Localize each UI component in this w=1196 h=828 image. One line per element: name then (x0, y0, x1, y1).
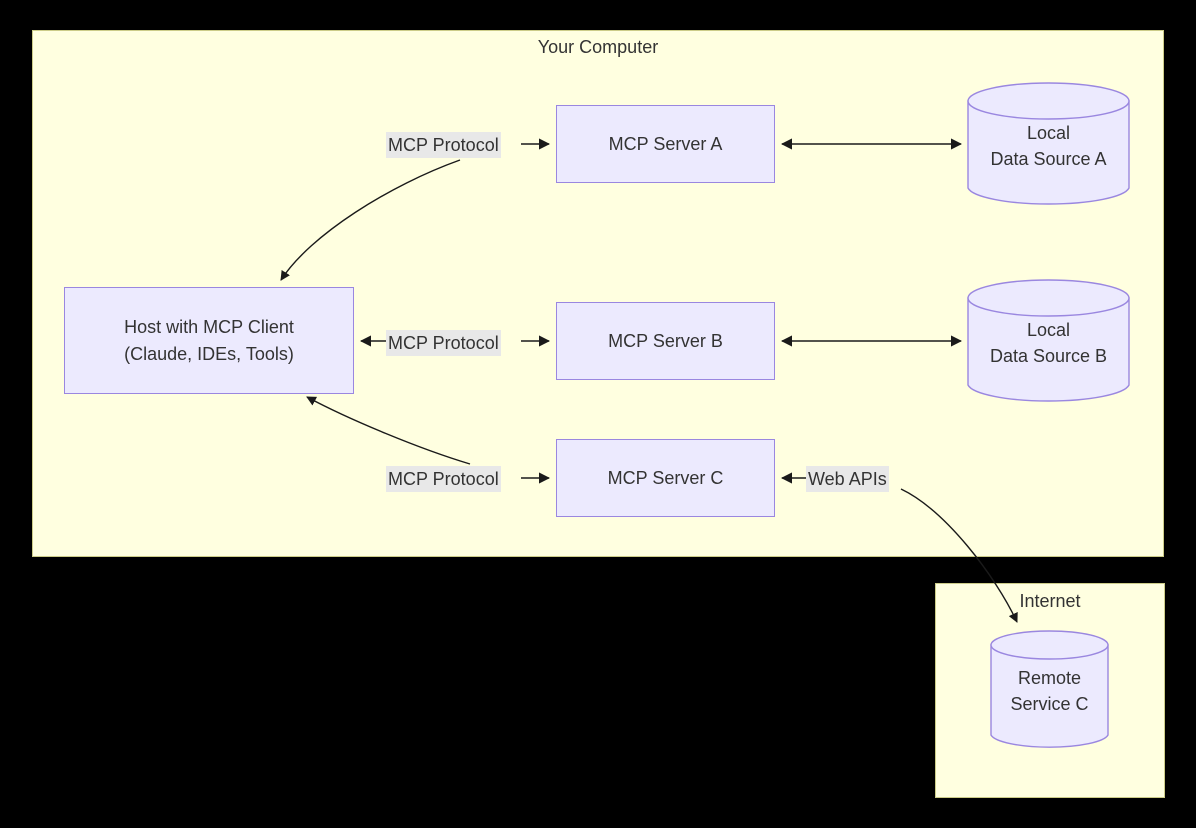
node-local-data-source-b[interactable]: Local Data Source B (967, 279, 1130, 404)
edge-label-mcp-protocol-b: MCP Protocol (386, 330, 501, 356)
node-mcp-server-b[interactable]: MCP Server B (556, 302, 775, 380)
edge-label-web-apis: Web APIs (806, 466, 889, 492)
remote-service-label-line2: Service C (1010, 691, 1088, 717)
server-a-label: MCP Server A (609, 131, 723, 157)
edge-label-mcp-protocol-c: MCP Protocol (386, 466, 501, 492)
container-title-internet: Internet (936, 591, 1164, 612)
edge-label-mcp-protocol-a: MCP Protocol (386, 132, 501, 158)
node-mcp-server-a[interactable]: MCP Server A (556, 105, 775, 183)
ds-a-label-line1: Local (1027, 119, 1070, 145)
node-host-with-mcp-client[interactable]: Host with MCP Client (Claude, IDEs, Tool… (64, 287, 354, 394)
diagram-canvas: Your Computer Internet (0, 0, 1196, 828)
host-label-line1: Host with MCP Client (124, 314, 294, 340)
node-remote-service-c[interactable]: Remote Service C (990, 630, 1109, 750)
ds-b-label-line2: Data Source B (990, 343, 1107, 369)
container-title-your-computer: Your Computer (33, 37, 1163, 58)
node-mcp-server-c[interactable]: MCP Server C (556, 439, 775, 517)
node-local-data-source-a[interactable]: Local Data Source A (967, 82, 1130, 207)
remote-service-label-line1: Remote (1018, 665, 1081, 691)
ds-a-label-line2: Data Source A (990, 146, 1106, 172)
ds-b-label-line1: Local (1027, 316, 1070, 342)
server-b-label: MCP Server B (608, 328, 723, 354)
host-label-line2: (Claude, IDEs, Tools) (124, 341, 294, 367)
server-c-label: MCP Server C (608, 465, 724, 491)
